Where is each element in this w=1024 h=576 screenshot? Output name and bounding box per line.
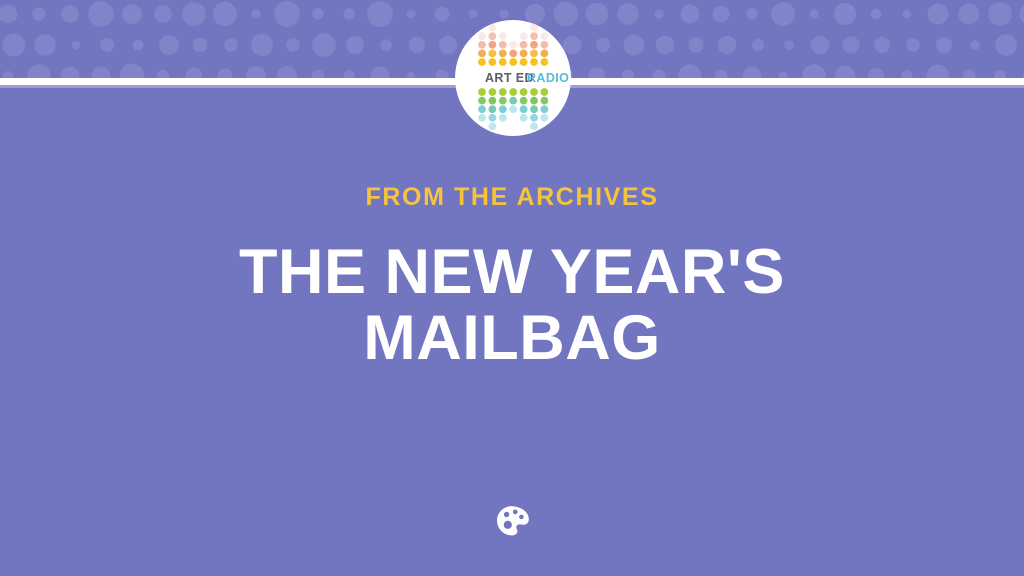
logo-equalizer-top (478, 24, 548, 66)
eyebrow-label: FROM THE ARCHIVES (0, 185, 1024, 210)
title-block: FROM THE ARCHIVES THE NEW YEAR'S MAILBAG (0, 185, 1024, 371)
podcast-cover-slide: ART ED RADIO FROM THE ARCHIVES THE NEW Y… (0, 0, 1024, 576)
page-title: THE NEW YEAR'S MAILBAG (0, 240, 1024, 371)
art-ed-radio-logo-badge: ART ED RADIO (455, 20, 571, 136)
logo-equalizer-bottom (478, 88, 548, 130)
logo-wordmark-radio: RADIO (527, 71, 569, 85)
palette-icon (494, 503, 530, 539)
